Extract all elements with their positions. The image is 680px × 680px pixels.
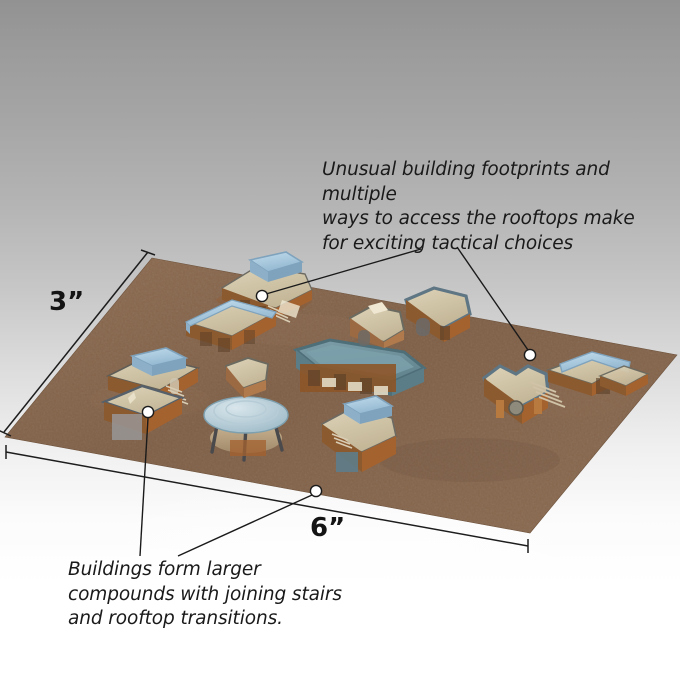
callout-text-rooftops: Unusual building footprints and multiple… — [322, 158, 680, 256]
gaming-board — [5, 258, 677, 533]
dimension-label-width: 6” — [310, 513, 345, 543]
callout-text-compounds: Buildings form larger compounds with joi… — [68, 558, 368, 632]
screenshot-stage: Unusual building footprints and multiple… — [0, 0, 680, 680]
dimension-label-depth: 3” — [49, 287, 84, 317]
